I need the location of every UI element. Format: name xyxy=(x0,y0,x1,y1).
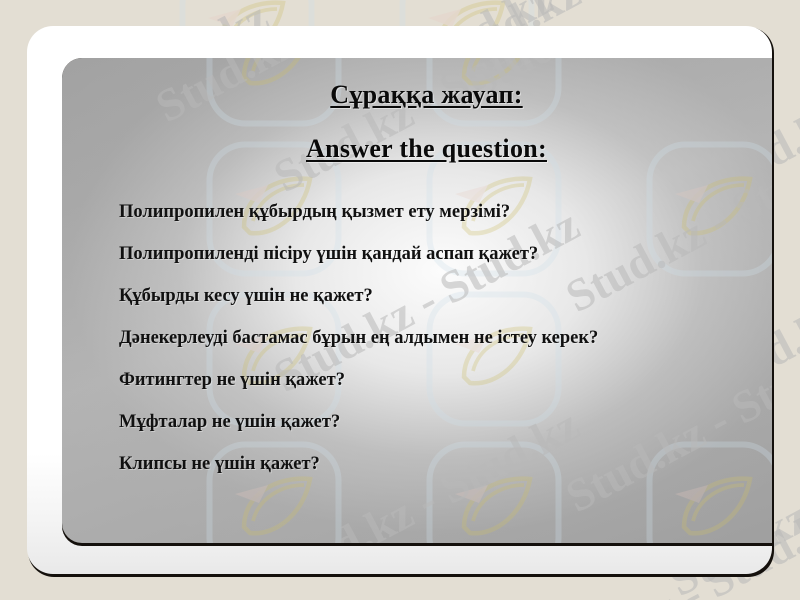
question-item: Полипропиленді пісіру үшін қандай аспап … xyxy=(119,233,772,275)
question-item: Дәнекерлеуді бастамас бұрын ең алдымен н… xyxy=(119,317,772,359)
slide-frame: Stud.kz - Stud.kzStud.kz - Stud.kzStud.k… xyxy=(27,26,772,574)
question-item: Құбырды кесу үшін не қажет? xyxy=(119,275,772,317)
question-item: Мұфталар не үшін қажет? xyxy=(119,401,772,443)
question-item: Фитингтер не үшін қажет? xyxy=(119,359,772,401)
question-list: Полипропилен құбырдың қызмет ету мерзімі… xyxy=(119,191,772,485)
question-item: Клипсы не үшін қажет? xyxy=(119,443,772,485)
slide-title-kazakh: Сұраққа жауап: xyxy=(62,80,772,110)
question-item: Полипропилен құбырдың қызмет ету мерзімі… xyxy=(119,191,772,233)
slide-text-stack: Сұраққа жауап: Answer the question: Поли… xyxy=(62,58,772,543)
slide-title-english: Answer the question: xyxy=(62,134,772,164)
content-panel: Stud.kz - Stud.kzStud.kz - Stud.kzStud.k… xyxy=(62,58,772,543)
